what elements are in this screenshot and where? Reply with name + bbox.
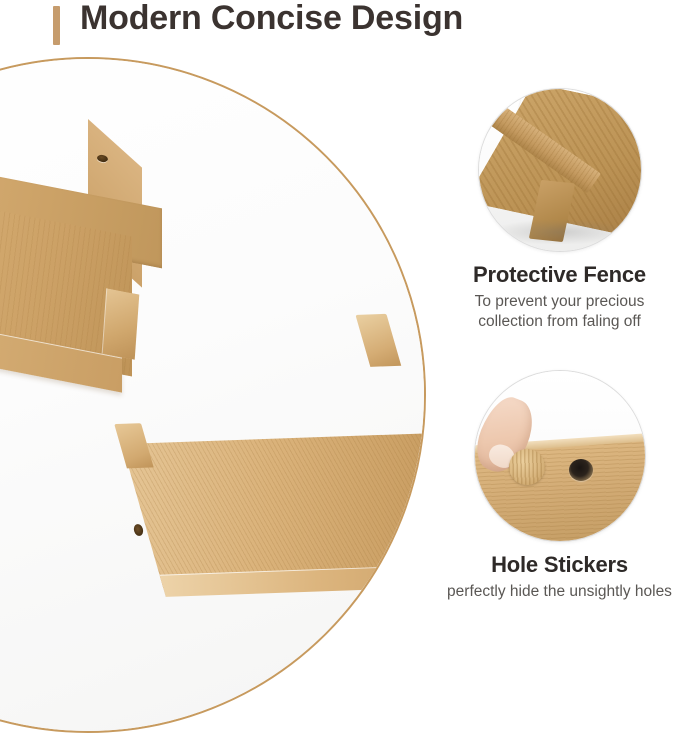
hole-stickers-desc-line1: perfectly hide the unsightly holes — [440, 582, 679, 602]
hole-stickers-description: perfectly hide the unsightly holes — [440, 582, 679, 602]
protective-fence-photo — [478, 88, 642, 252]
upper-shelf-end-cap — [102, 288, 140, 360]
feature-card-protective-fence: Protective Fence To prevent your preciou… — [440, 88, 679, 332]
hole-stickers-photo — [474, 370, 646, 542]
lower-shelf-deck — [122, 433, 426, 588]
fence-photo-shadow — [489, 219, 629, 245]
page-header: Modern Concise Design — [0, 0, 679, 58]
page-title: Modern Concise Design — [80, 0, 463, 38]
feature-card-hole-stickers: Hole Stickers perfectly hide the unsight… — [440, 370, 679, 602]
screw-hole-icon-sticker-photo — [569, 459, 593, 481]
protective-fence-description: To prevent your precious collection from… — [440, 292, 679, 332]
protective-fence-desc-line2: collection from faling off — [440, 312, 679, 332]
title-accent-bar — [53, 6, 60, 45]
protective-fence-desc-line1: To prevent your precious — [440, 292, 679, 312]
hero-product-photo — [0, 57, 426, 733]
hole-sticker-icon — [509, 449, 545, 485]
hole-stickers-title: Hole Stickers — [440, 552, 679, 578]
protective-fence-title: Protective Fence — [440, 262, 679, 288]
hero-photo-content — [0, 59, 424, 731]
